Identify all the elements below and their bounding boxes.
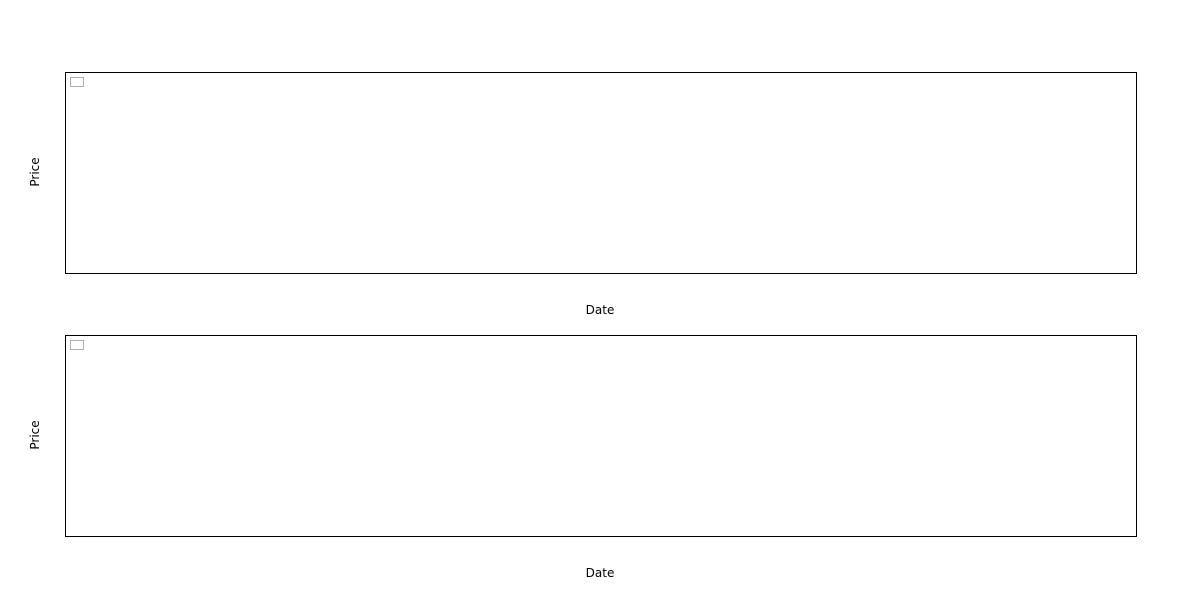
bottom-y-axis-title: Price (28, 395, 42, 475)
bottom-x-axis-title: Date (65, 566, 1135, 580)
top-x-axis-title: Date (65, 303, 1135, 317)
top-plot-area (65, 72, 1137, 274)
bottom-legend (70, 340, 84, 350)
top-legend (70, 77, 84, 87)
chart-page: Price Date Price Date (0, 0, 1200, 600)
bottom-plot-area (65, 335, 1137, 537)
top-y-axis-title: Price (28, 132, 42, 212)
